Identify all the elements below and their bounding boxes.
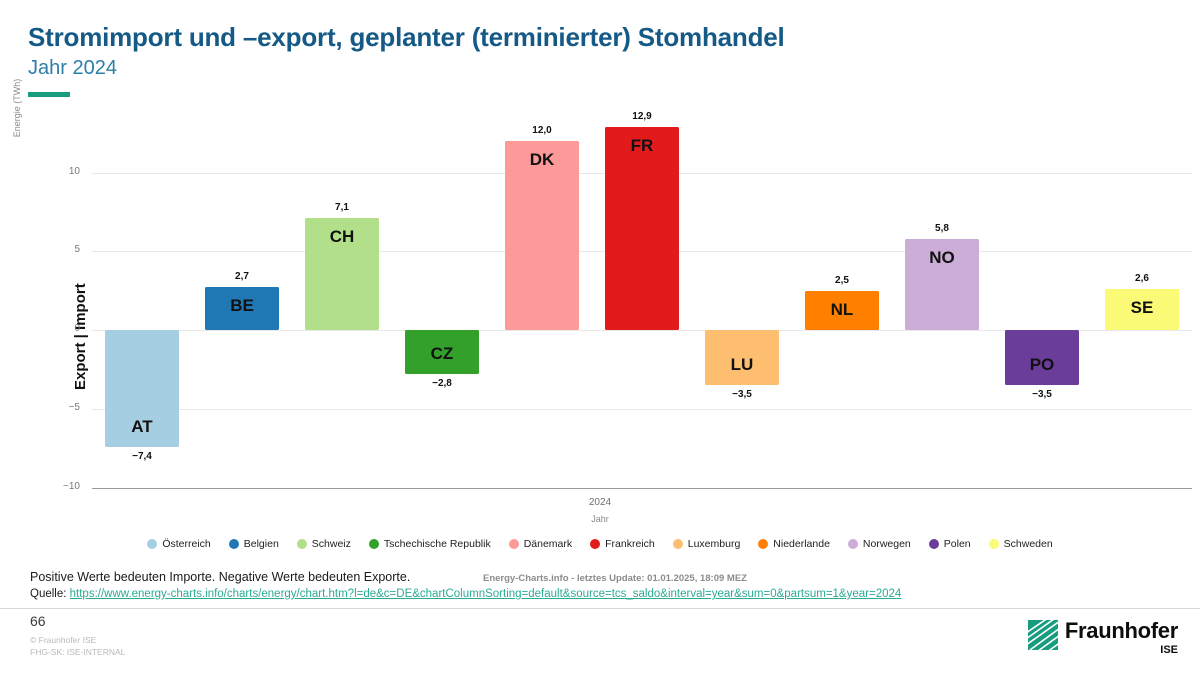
bar-label-at: AT (105, 417, 180, 437)
bar-value-nl: 2,5 (805, 275, 880, 286)
legend-swatch-icon (758, 539, 768, 549)
source-prefix-label: Quelle: (30, 588, 70, 600)
bar-value-dk: 12,0 (505, 125, 580, 136)
legend-label: Tschechische Republik (384, 538, 491, 550)
logo-wordmark: Fraunhofer (1065, 620, 1178, 642)
bar-value-be: 2,7 (205, 271, 280, 282)
legend-item-no[interactable]: Norwegen (848, 538, 911, 550)
legend-item-be[interactable]: Belgien (229, 538, 279, 550)
legend-label: Schweiz (312, 538, 351, 550)
legend-label: Schweden (1004, 538, 1053, 550)
bar-label-lu: LU (705, 355, 780, 375)
data-update-stamp: Energy-Charts.info - letztes Update: 01.… (483, 573, 747, 584)
bar-value-fr: 12,9 (605, 111, 680, 122)
legend-swatch-icon (673, 539, 683, 549)
legend-swatch-icon (229, 539, 239, 549)
legend-label: Niederlande (773, 538, 830, 550)
legend-label: Dänemark (524, 538, 572, 550)
bar-value-ch: 7,1 (305, 202, 380, 213)
bar-label-fr: FR (605, 136, 680, 156)
legend-label: Luxemburg (688, 538, 741, 550)
legend-swatch-icon (297, 539, 307, 549)
logo-institute: ISE (1065, 645, 1178, 656)
legend-swatch-icon (848, 539, 858, 549)
legend-item-cz[interactable]: Tschechische Republik (369, 538, 491, 550)
bar-value-no: 5,8 (905, 223, 980, 234)
legend-label: Norwegen (863, 538, 911, 550)
bar-value-se: 2,6 (1105, 273, 1180, 284)
legend-item-se[interactable]: Schweden (989, 538, 1053, 550)
fraunhofer-logo-text: Fraunhofer ISE (1065, 620, 1178, 656)
bar-label-se: SE (1105, 298, 1180, 318)
legend-label: Frankreich (605, 538, 655, 550)
source-url-link[interactable]: https://www.energy-charts.info/charts/en… (70, 588, 902, 600)
legend-swatch-icon (147, 539, 157, 549)
classification-line: FHG-SK: ISE-INTERNAL (30, 646, 125, 658)
bar-value-cz: −2,8 (405, 378, 480, 389)
bar-label-ch: CH (305, 227, 380, 247)
legend-item-fr[interactable]: Frankreich (590, 538, 655, 550)
legend-label: Österreich (162, 538, 210, 550)
source-line: Quelle: https://www.energy-charts.info/c… (30, 588, 901, 600)
legend-item-at[interactable]: Österreich (147, 538, 210, 550)
chart-legend: ÖsterreichBelgienSchweizTschechische Rep… (0, 538, 1200, 550)
legend-swatch-icon (509, 539, 519, 549)
copyright-line: © Fraunhofer ISE (30, 634, 125, 646)
footer-divider (0, 608, 1200, 609)
fraunhofer-logo-mark-icon (1028, 620, 1058, 650)
legend-item-ch[interactable]: Schweiz (297, 538, 351, 550)
legend-swatch-icon (989, 539, 999, 549)
fraunhofer-logo: Fraunhofer ISE (1028, 620, 1178, 656)
legend-label: Belgien (244, 538, 279, 550)
x-axis-title: Jahr (0, 514, 1200, 524)
copyright-block: © Fraunhofer ISE FHG-SK: ISE-INTERNAL (30, 634, 125, 659)
bar-value-po: −3,5 (1005, 389, 1080, 400)
bar-label-no: NO (905, 248, 980, 268)
legend-item-nl[interactable]: Niederlande (758, 538, 830, 550)
legend-item-po[interactable]: Polen (929, 538, 971, 550)
legend-item-lu[interactable]: Luxemburg (673, 538, 741, 550)
legend-swatch-icon (929, 539, 939, 549)
bar-label-cz: CZ (405, 344, 480, 364)
bar-label-po: PO (1005, 355, 1080, 375)
legend-swatch-icon (590, 539, 600, 549)
legend-item-dk[interactable]: Dänemark (509, 538, 572, 550)
bar-fr[interactable] (605, 127, 680, 330)
legend-label: Polen (944, 538, 971, 550)
page-number: 66 (30, 613, 46, 629)
explanation-note: Positive Werte bedeuten Importe. Negativ… (30, 570, 410, 584)
bar-label-be: BE (205, 296, 280, 316)
bar-label-dk: DK (505, 150, 580, 170)
legend-swatch-icon (369, 539, 379, 549)
bar-value-at: −7,4 (105, 451, 180, 462)
x-axis-tick-label: 2024 (0, 497, 1200, 508)
bar-label-nl: NL (805, 300, 880, 320)
bar-value-lu: −3,5 (705, 389, 780, 400)
